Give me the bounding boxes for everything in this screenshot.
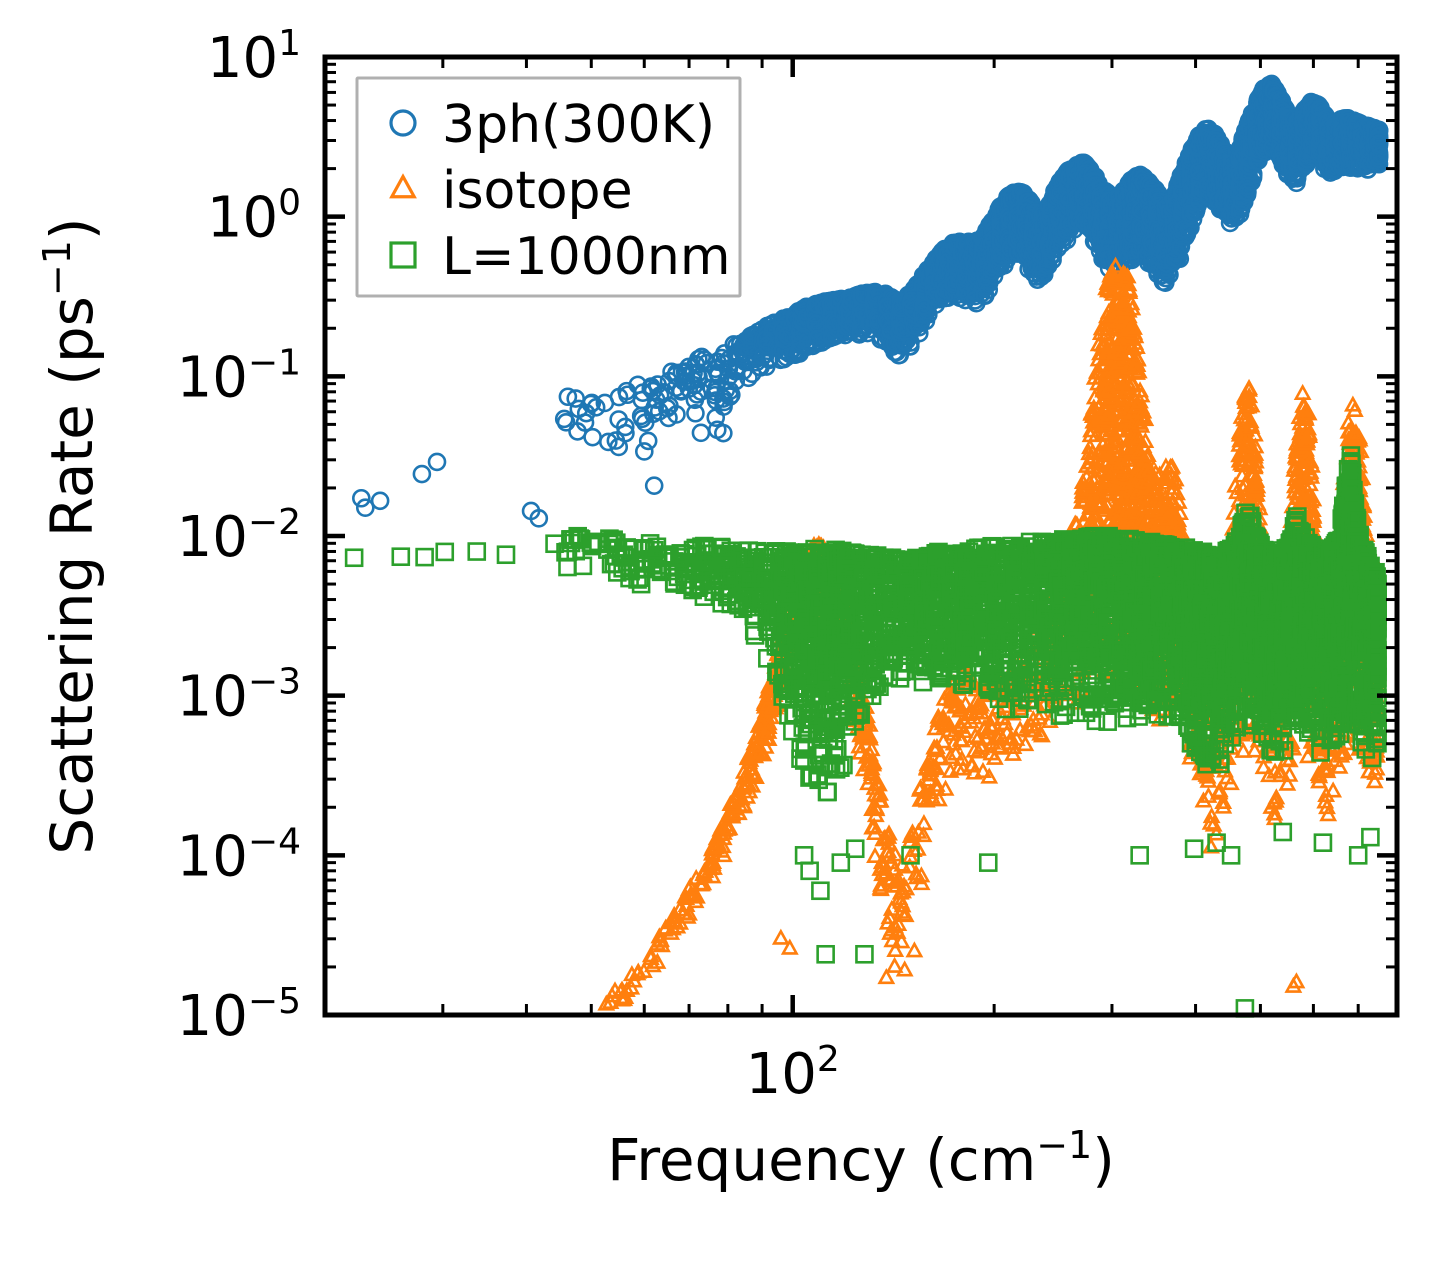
y-tick-label: 10−3 <box>177 662 301 730</box>
y-tick-label: 10−5 <box>177 981 301 1049</box>
y-tick-label: 10−1 <box>177 342 301 410</box>
figure-canvas: 10110010−110−210−310−410−5102 Frequency … <box>0 0 1455 1265</box>
legend-entry-l-1000nm[interactable]: L=1000nm <box>391 227 731 287</box>
legend[interactable]: 3ph(300K)isotopeL=1000nm <box>357 78 740 296</box>
y-tick-label: 100 <box>207 183 301 251</box>
scatter-plot: 10110010−110−210−310−410−5102 Frequency … <box>0 0 1455 1265</box>
legend-label: L=1000nm <box>442 227 731 287</box>
y-tick-label: 101 <box>207 23 301 91</box>
x-tick-label: 102 <box>746 1039 840 1107</box>
legend-label: 3ph(300K) <box>442 95 715 155</box>
y-tick-label: 10−2 <box>177 502 301 570</box>
x-axis-label: Frequency (cm−1) <box>607 1123 1115 1194</box>
y-axis-label: Scattering Rate (ps−1) <box>35 217 106 854</box>
legend-label: isotope <box>442 161 633 221</box>
y-tick-label: 10−4 <box>177 821 301 889</box>
